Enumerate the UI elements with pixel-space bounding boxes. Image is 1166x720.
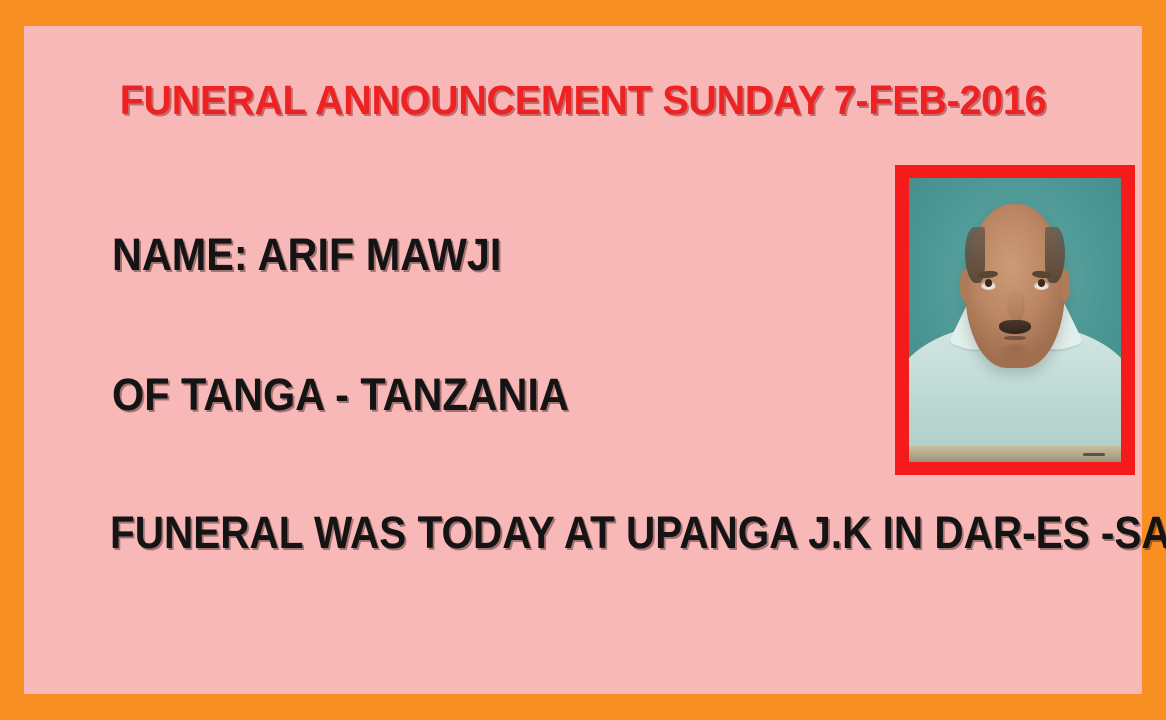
pupil-right-shape [1038,279,1046,287]
nose-shape [1008,291,1023,321]
head-shape [965,204,1065,369]
deceased-origin-line: OF TANGA - TANZANIA [112,372,569,417]
chin-shading-shape [998,344,1032,364]
page-title: FUNERAL ANNOUNCEMENT SUNDAY 7-FEB-2016 [46,80,1119,121]
moustache-shape [999,320,1032,334]
eye-left-shape [981,281,996,290]
ear-right-shape [1061,269,1070,302]
funeral-announcement-poster: FUNERAL ANNOUNCEMENT SUNDAY 7-FEB-2016 N… [0,0,1166,720]
deceased-name-line: NAME: ARIF MAWJI [112,232,501,277]
mouth-shape [1004,336,1026,340]
portrait-photo [909,178,1121,462]
portrait-photo-frame [895,165,1135,475]
photo-desk-strip [909,446,1121,462]
funeral-venue-line: FUNERAL WAS TODAY AT UPANGA J.K IN DAR-E… [110,510,1166,555]
pupil-left-shape [985,279,993,287]
poster-panel: FUNERAL ANNOUNCEMENT SUNDAY 7-FEB-2016 N… [24,26,1142,694]
eye-right-shape [1034,281,1049,290]
